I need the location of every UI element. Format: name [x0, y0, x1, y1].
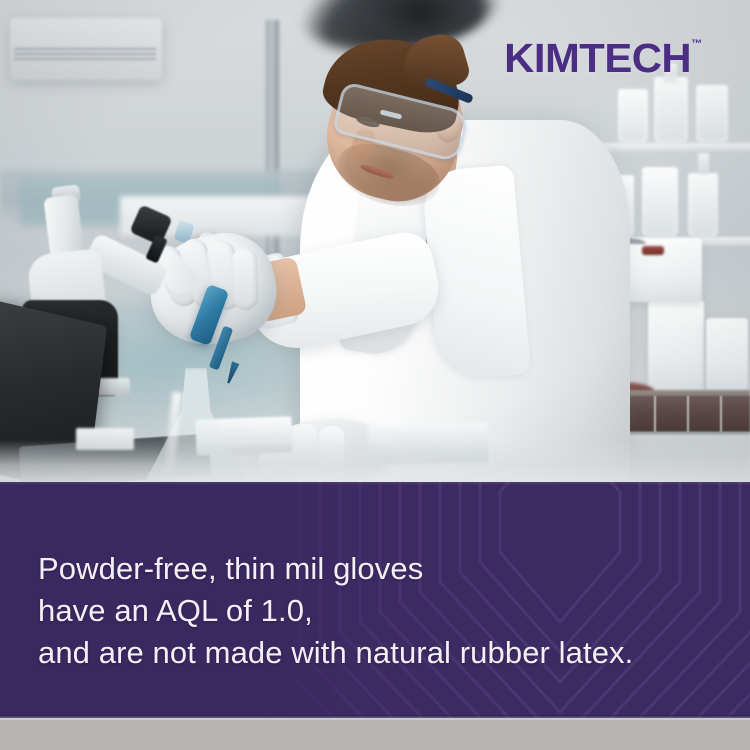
band-top-highlight	[0, 482, 750, 485]
band-bottom-divider	[0, 715, 750, 718]
kimtech-glove-ad: KIMTECH ™	[0, 0, 750, 750]
headline-text: Powder-free, thin mil gloves have an AQL…	[38, 548, 718, 674]
headline-line-1: Powder-free, thin mil gloves	[38, 548, 718, 590]
headline-line-2: have an AQL of 1.0,	[38, 590, 718, 632]
headline-line-3: and are not made with natural rubber lat…	[38, 632, 718, 674]
kimtech-logo: KIMTECH ™	[506, 38, 702, 79]
trademark-icon: ™	[691, 39, 702, 50]
glove-finger	[231, 248, 259, 311]
footer-strip	[0, 720, 750, 750]
photo-bottom-fade	[0, 440, 750, 482]
kimtech-logo-wordmark: KIMTECH	[504, 38, 691, 79]
pipette-tip	[224, 361, 239, 384]
